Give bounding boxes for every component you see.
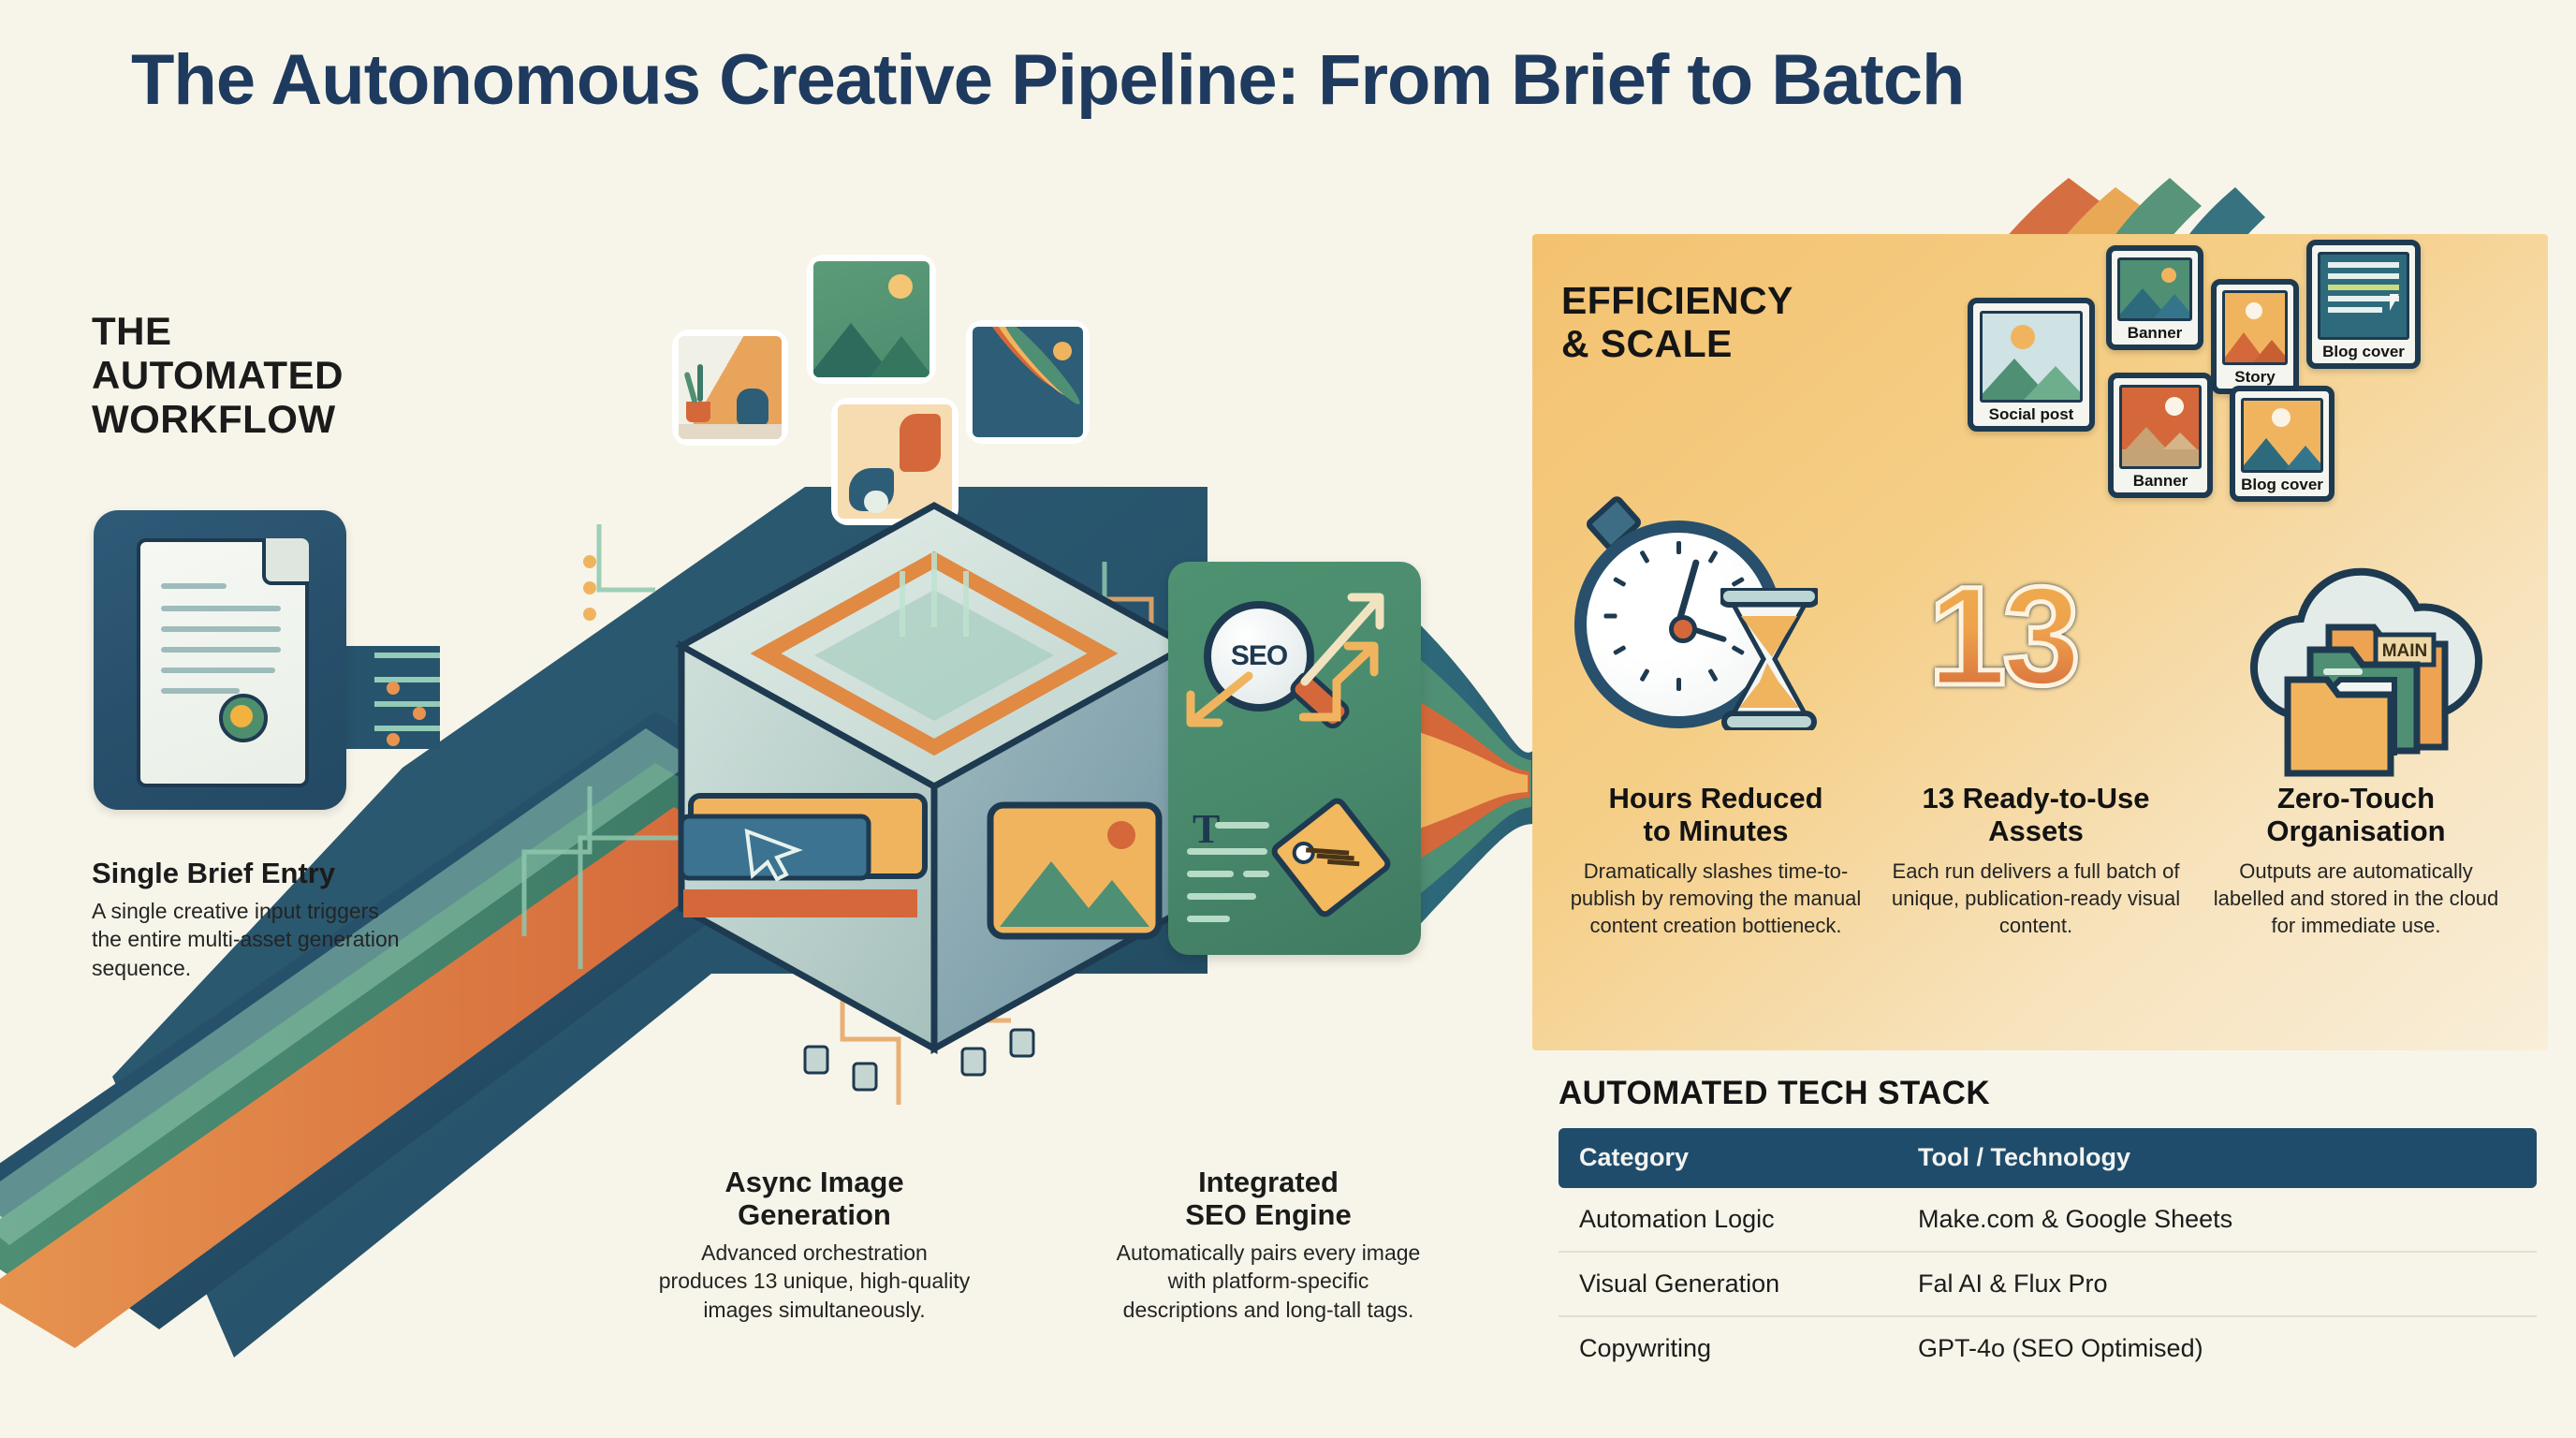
seo-text-line	[1215, 822, 1269, 829]
seo-text-line	[1243, 871, 1269, 877]
cell-tool: GPT-4o (SEO Optimised)	[1897, 1316, 2537, 1380]
column-header-tool: Tool / Technology	[1897, 1128, 2537, 1188]
down-arrow-icon	[1174, 670, 1254, 736]
benefit-title-line-2: to Minutes	[1561, 814, 1870, 847]
benefit-title-line-2: Organisation	[2202, 814, 2510, 847]
asset-card: Banner	[2106, 245, 2203, 350]
doc-line	[161, 688, 240, 694]
brief-connector-node	[219, 694, 268, 742]
seo-text-line	[1187, 916, 1230, 922]
asset-card-label: Banner	[2133, 469, 2188, 492]
folder-tag-label: MAIN	[2382, 641, 2428, 661]
asset-card: Blog cover	[2306, 240, 2421, 369]
generated-thumbnail-mountain	[807, 255, 936, 384]
caption-title: Single Brief Entry	[92, 857, 401, 889]
benefit-title: Hours Reduced to Minutes	[1561, 782, 1870, 848]
thumb-art	[973, 327, 1083, 437]
asset-card-label: Blog cover	[2241, 473, 2323, 496]
seo-text-line	[1187, 893, 1256, 900]
table-row: CopywritingGPT-4o (SEO Optimised)	[1559, 1316, 2537, 1380]
hourglass-icon	[1720, 588, 1818, 730]
asset-thumbnail	[1980, 311, 2083, 403]
cell-category: Visual Generation	[1559, 1252, 1897, 1316]
asset-card: Social post	[1968, 298, 2095, 432]
thumb-art	[679, 336, 782, 439]
seo-text-line	[1187, 871, 1234, 877]
seo-badge-label: SEO	[1231, 640, 1287, 672]
asset-card: Banner	[2108, 373, 2213, 498]
asset-card: Story	[2211, 279, 2299, 394]
caption-title-line-1: Integrated	[1109, 1166, 1427, 1198]
caption-body: Automatically pairs every image with pla…	[1109, 1239, 1427, 1324]
tech-stack-heading: AUTOMATED TECH STACK	[1559, 1075, 1990, 1112]
document-page	[137, 538, 309, 787]
caption-title: Integrated SEO Engine	[1109, 1166, 1427, 1231]
typography-icon: T	[1193, 813, 1220, 845]
cell-tool: Fal AI & Flux Pro	[1897, 1252, 2537, 1316]
workflow-section-heading: THE AUTOMATED WORKFLOW	[92, 309, 344, 441]
asset-thumbnail	[2119, 385, 2202, 469]
benefit-title-line-1: Zero-Touch	[2202, 782, 2510, 814]
brief-document-icon	[94, 510, 346, 810]
seo-text-line	[1187, 848, 1267, 855]
asset-thumbnail	[2222, 290, 2288, 365]
caption-title-line-2: SEO Engine	[1109, 1198, 1427, 1231]
generated-thumbnail-waves	[966, 320, 1090, 444]
column-header-category: Category	[1559, 1128, 1897, 1188]
page-title: The Autonomous Creative Pipeline: From B…	[131, 39, 1964, 121]
asset-thumbnail	[2117, 257, 2192, 321]
benefit-title-line-1: 13 Ready-to-Use	[1881, 782, 2190, 814]
benefit-body: Each run delivers a full batch of unique…	[1881, 858, 2190, 940]
caption-single-brief-entry: Single Brief Entry A single creative inp…	[92, 857, 401, 982]
table-header-row: Category Tool / Technology	[1559, 1128, 2537, 1188]
benefit-zero-touch-organisation: Zero-Touch Organisation Outputs are auto…	[2202, 782, 2510, 939]
cloud-storage-icon: MAIN	[2239, 554, 2520, 788]
tag-icon	[1268, 795, 1395, 921]
workflow-heading-line-3: WORKFLOW	[92, 397, 344, 441]
efficiency-heading: EFFICIENCY & SCALE	[1561, 279, 1793, 366]
workflow-heading-line-2: AUTOMATED	[92, 353, 344, 397]
asset-card-label: Banner	[2128, 321, 2183, 345]
page-fold-corner	[262, 538, 309, 585]
stopwatch-pin	[1669, 615, 1697, 643]
workflow-heading-line-1: THE	[92, 309, 344, 353]
asset-card-label: Blog cover	[2322, 340, 2405, 363]
doc-line	[161, 647, 281, 653]
caption-title-line-2: Generation	[655, 1198, 973, 1231]
benefit-title-line-1: Hours Reduced	[1561, 782, 1870, 814]
growth-arrows-icon	[1299, 579, 1412, 728]
table-row: Automation LogicMake.com & Google Sheets	[1559, 1188, 2537, 1252]
seo-engine-panel: SEO T	[1168, 562, 1421, 955]
caption-async-image-generation: Async Image Generation Advanced orchestr…	[655, 1166, 973, 1324]
asset-card: Blog cover	[2230, 386, 2334, 502]
caption-title-line-1: Async Image	[655, 1166, 973, 1198]
tech-stack-table: Category Tool / Technology Automation Lo…	[1559, 1128, 2537, 1380]
asset-card-label: Social post	[1989, 403, 2074, 426]
cell-category: Copywriting	[1559, 1316, 1897, 1380]
caption-body: Advanced orchestration produces 13 uniqu…	[655, 1239, 973, 1324]
benefit-hours-reduced: Hours Reduced to Minutes Dramatically sl…	[1561, 782, 1870, 939]
table-row: Visual GenerationFal AI & Flux Pro	[1559, 1252, 2537, 1316]
benefit-body: Outputs are automatically labelled and s…	[2202, 858, 2510, 940]
caption-body: A single creative input triggers the ent…	[92, 897, 401, 982]
assets-count-number: 13	[1928, 565, 2077, 706]
stopwatch-minute-hand	[1676, 559, 1700, 624]
benefit-ready-to-use-assets: 13 Ready-to-Use Assets Each run delivers…	[1881, 782, 2190, 939]
doc-line	[161, 668, 275, 673]
caption-integrated-seo-engine: Integrated SEO Engine Automatically pair…	[1109, 1166, 1427, 1324]
benefit-body: Dramatically slashes time-to-publish by …	[1561, 858, 1870, 940]
generation-engine-cube	[663, 487, 1206, 1105]
asset-thumbnail	[2241, 398, 2323, 473]
benefit-title: Zero-Touch Organisation	[2202, 782, 2510, 848]
thumb-art	[813, 261, 929, 377]
efficiency-heading-line-2: & SCALE	[1561, 322, 1793, 365]
asset-thumbnail	[2318, 252, 2409, 340]
doc-line	[161, 583, 227, 589]
efficiency-heading-line-1: EFFICIENCY	[1561, 279, 1793, 322]
benefit-title-line-2: Assets	[1881, 814, 2190, 847]
caption-title: Async Image Generation	[655, 1166, 973, 1231]
doc-line	[161, 606, 281, 611]
cell-category: Automation Logic	[1559, 1188, 1897, 1252]
generated-thumbnail-plant	[672, 330, 788, 446]
benefit-title: 13 Ready-to-Use Assets	[1881, 782, 2190, 848]
infographic-canvas: The Autonomous Creative Pipeline: From B…	[0, 0, 2576, 1438]
cell-tool: Make.com & Google Sheets	[1897, 1188, 2537, 1252]
doc-line	[161, 626, 281, 632]
